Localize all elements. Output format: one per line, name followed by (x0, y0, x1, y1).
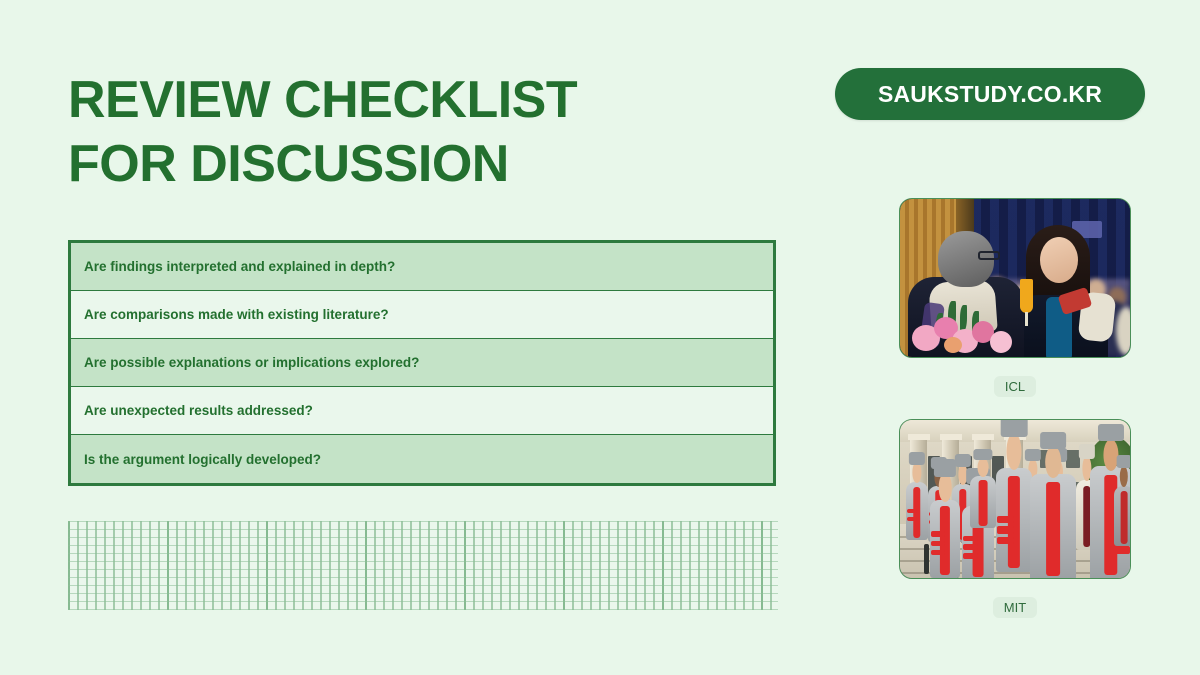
page-title-line-1: REVIEW CHECKLIST (68, 68, 708, 132)
photo-caption-icl: ICL (899, 376, 1131, 397)
photo-card-icl[interactable] (899, 198, 1131, 358)
checklist-row[interactable]: Are unexpected results addressed? (71, 387, 773, 435)
graduation-reception-image (900, 199, 1130, 357)
page-title-line-2: FOR DISCUSSION (68, 132, 708, 196)
checklist-table: Are findings interpreted and explained i… (68, 240, 776, 486)
photo-caption-mit: MIT (899, 597, 1131, 618)
checklist-row-label: Are possible explanations or implication… (84, 355, 419, 370)
photo-caption-mit-label: MIT (993, 597, 1037, 618)
photo-card-mit[interactable] (899, 419, 1131, 579)
checklist-row[interactable]: Are findings interpreted and explained i… (71, 243, 773, 291)
checklist-row-label: Are comparisons made with existing liter… (84, 307, 389, 322)
checklist-row[interactable]: Is the argument logically developed? (71, 435, 773, 483)
photo-caption-icl-label: ICL (994, 376, 1036, 397)
page-title: REVIEW CHECKLIST FOR DISCUSSION (68, 68, 708, 196)
checklist-row-label: Is the argument logically developed? (84, 452, 321, 467)
checklist-row[interactable]: Are comparisons made with existing liter… (71, 291, 773, 339)
decorative-grid (68, 521, 778, 610)
slide-canvas: REVIEW CHECKLIST FOR DISCUSSION SAUKSTUD… (0, 0, 1200, 675)
checklist-row[interactable]: Are possible explanations or implication… (71, 339, 773, 387)
checklist-row-label: Are unexpected results addressed? (84, 403, 313, 418)
commencement-procession-image (900, 420, 1130, 578)
brand-badge[interactable]: SAUKSTUDY.CO.KR (835, 68, 1145, 120)
checklist-row-label: Are findings interpreted and explained i… (84, 259, 395, 274)
brand-badge-label: SAUKSTUDY.CO.KR (878, 81, 1102, 108)
